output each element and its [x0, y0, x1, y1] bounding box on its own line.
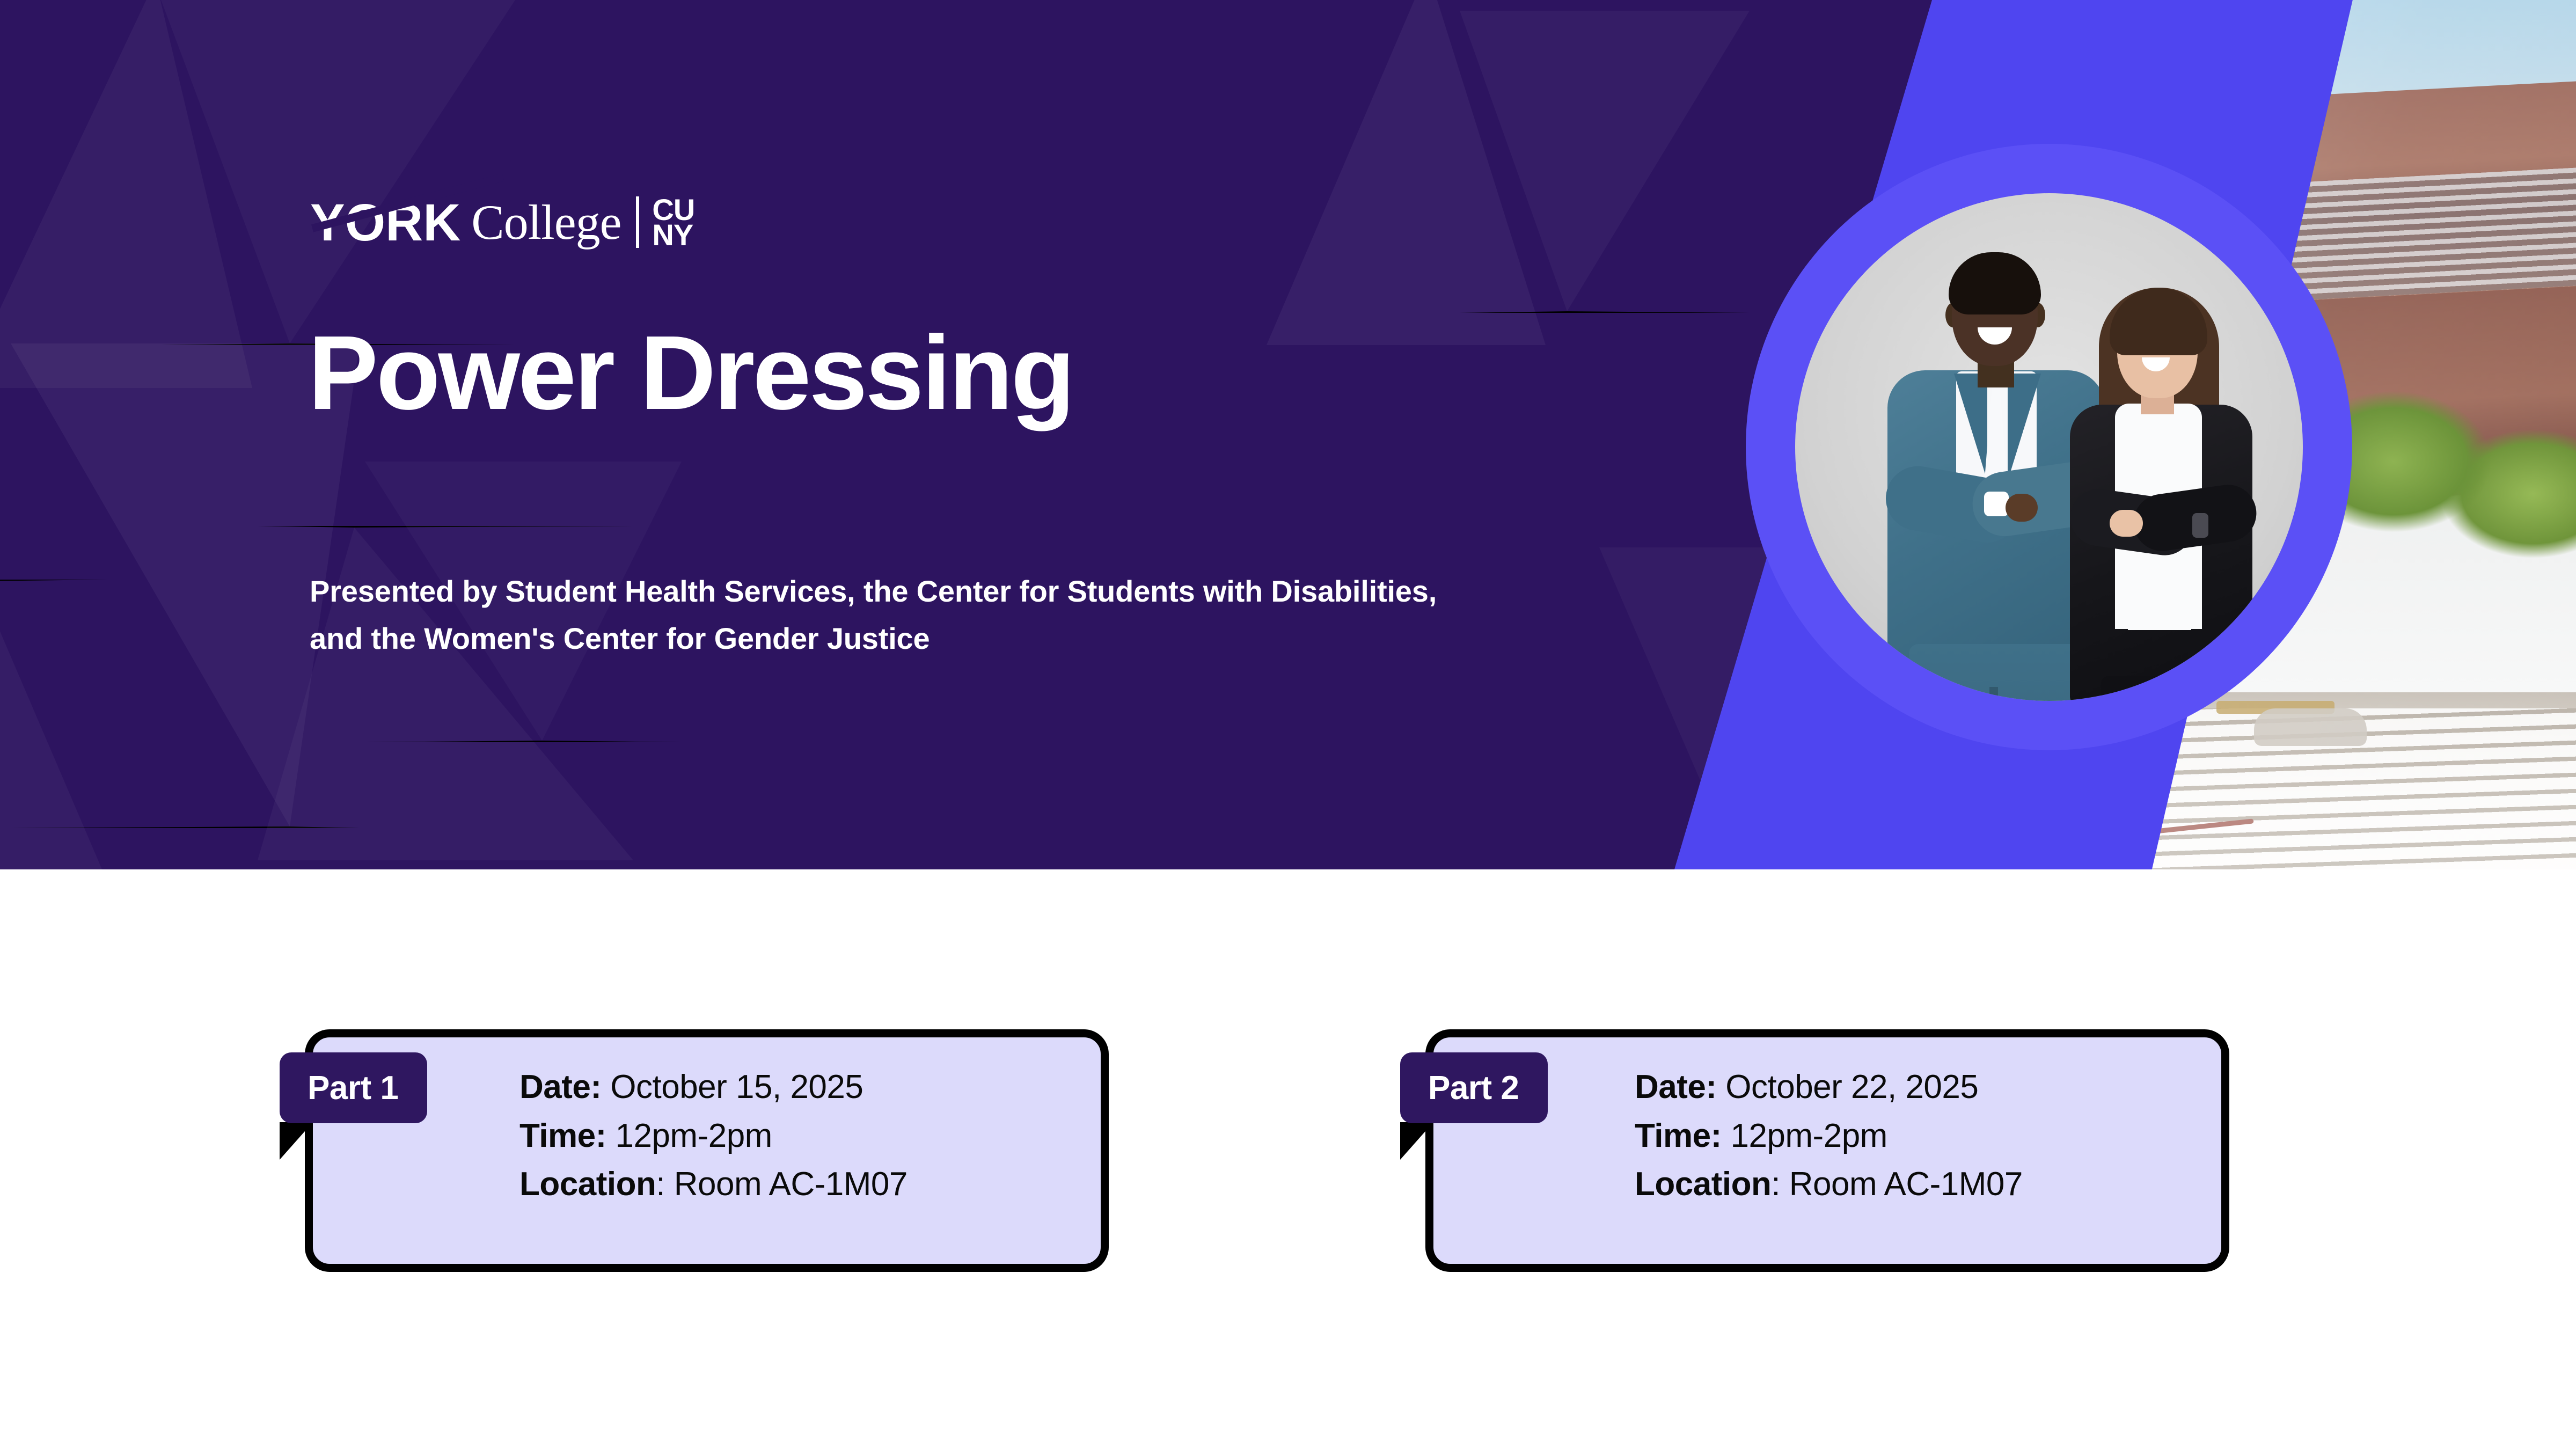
logo-college-wordmark: College [471, 197, 621, 247]
location-row: Location: Room AC-1M07 [519, 1160, 908, 1209]
tag-tail-icon [280, 1122, 313, 1160]
page-title: Power Dressing [308, 320, 1073, 426]
location-label: Location [1635, 1166, 1771, 1203]
session-details: Date: October 22, 2025 Time: 12pm-2pm Lo… [1635, 1063, 2023, 1209]
session-card-part-2: Part 2 Date: October 22, 2025 Time: 12pm… [1425, 1029, 2229, 1272]
logo-divider [636, 196, 639, 248]
hero-banner: YORK College CU NY Power Dressing Presen… [0, 0, 2576, 869]
time-value: 12pm-2pm [615, 1117, 772, 1154]
part-tag: Part 2 [1400, 1052, 1548, 1123]
time-row: Time: 12pm-2pm [519, 1112, 908, 1161]
tag-tail-icon [1400, 1122, 1433, 1160]
location-value: : Room AC-1M07 [1771, 1166, 2023, 1203]
date-row: Date: October 22, 2025 [1635, 1063, 2023, 1112]
date-label: Date: [519, 1069, 602, 1106]
part-tag: Part 1 [280, 1052, 427, 1123]
time-value: 12pm-2pm [1730, 1117, 1887, 1154]
date-label: Date: [1635, 1069, 1717, 1106]
date-value: October 22, 2025 [1725, 1069, 1978, 1106]
logo-cuny-ny: NY [652, 222, 694, 247]
date-row: Date: October 15, 2025 [519, 1063, 908, 1112]
portrait-photo [1795, 193, 2303, 701]
time-row: Time: 12pm-2pm [1635, 1112, 2023, 1161]
page-subtitle: Presented by Student Health Services, th… [310, 568, 1490, 663]
decor-triangle [161, 0, 515, 345]
session-cards: Part 1 Date: October 15, 2025 Time: 12pm… [0, 869, 2576, 1449]
session-details: Date: October 15, 2025 Time: 12pm-2pm Lo… [519, 1063, 908, 1209]
logo-cuny-mark: CU NY [652, 197, 694, 247]
location-row: Location: Room AC-1M07 [1635, 1160, 2023, 1209]
time-label: Time: [519, 1117, 606, 1154]
purple-panel [0, 0, 1932, 869]
time-label: Time: [1635, 1117, 1722, 1154]
location-label: Location [519, 1166, 656, 1203]
session-card-part-1: Part 1 Date: October 15, 2025 Time: 12pm… [305, 1029, 1109, 1272]
location-value: : Room AC-1M07 [656, 1166, 908, 1203]
portrait-ring [1746, 144, 2352, 750]
decor-triangle [0, 580, 107, 869]
logo-york-wordmark: YORK [310, 196, 463, 248]
decor-triangle [1460, 11, 1750, 313]
date-value: October 15, 2025 [610, 1069, 863, 1106]
york-college-cuny-logo: YORK College CU NY [310, 192, 694, 252]
